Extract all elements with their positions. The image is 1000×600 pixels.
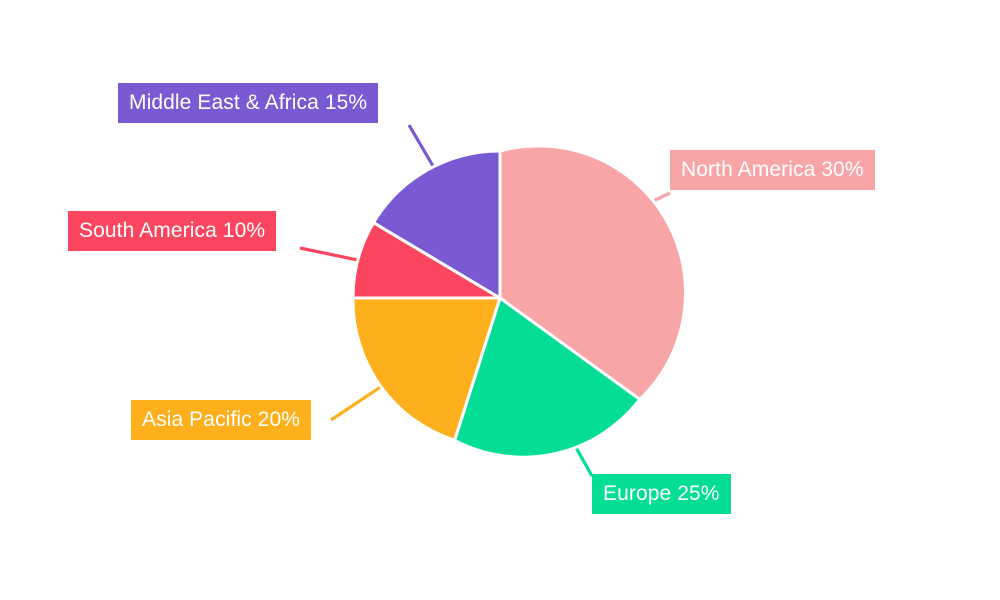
pie-label-north-america[interactable]: North America 30% bbox=[670, 150, 875, 190]
leader-line-asia-pacific bbox=[331, 384, 385, 420]
leader-line-middle-east-africa bbox=[409, 125, 433, 166]
pie-label-asia-pacific[interactable]: Asia Pacific 20% bbox=[131, 400, 311, 440]
pie-label-middle-east-africa[interactable]: Middle East & Africa 15% bbox=[118, 83, 378, 123]
pie-label-europe[interactable]: Europe 25% bbox=[592, 474, 731, 514]
pie-label-south-america[interactable]: South America 10% bbox=[68, 211, 276, 251]
pie-slices bbox=[353, 146, 686, 457]
pie-chart: North America 30% Europe 25% Asia Pacifi… bbox=[0, 0, 1000, 600]
